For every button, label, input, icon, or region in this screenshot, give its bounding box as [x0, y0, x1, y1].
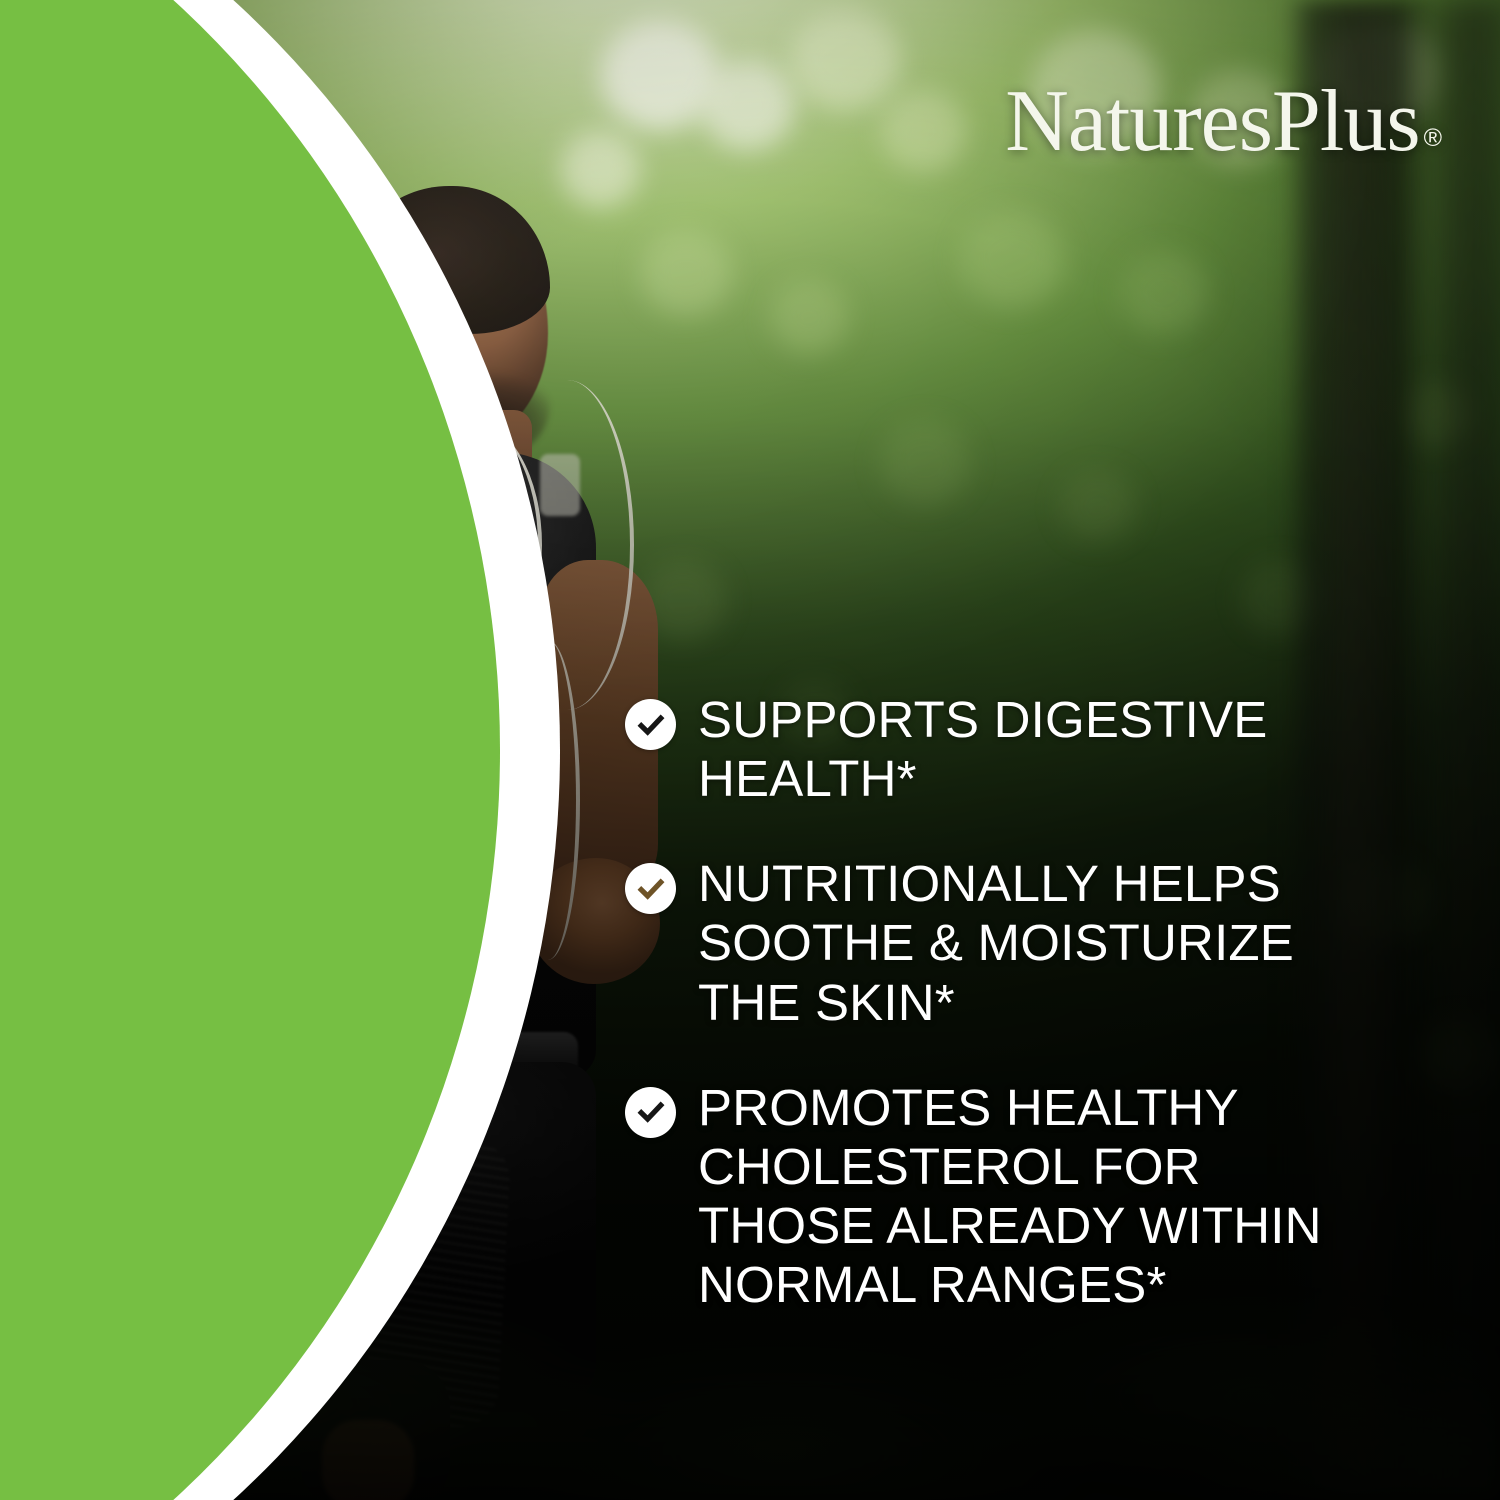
- benefit-item-soothe-moisturize-skin: NUTRITIONALLY HELPS SOOTHE & MOISTURIZE …: [625, 854, 1385, 1031]
- check-circle-icon: [625, 1087, 676, 1138]
- benefit-label: NUTRITIONALLY HELPS SOOTHE & MOISTURIZE …: [698, 854, 1294, 1031]
- naturesplus-logo: NaturesPlus ®: [1005, 78, 1442, 166]
- logo-wordmark: NaturesPlus: [1005, 78, 1419, 166]
- product-marketing-banner: NaturesPlus ® SUPPORTS DIGESTIVE HEALTH*…: [0, 0, 1500, 1500]
- benefit-label: SUPPORTS DIGESTIVE HEALTH*: [698, 690, 1267, 808]
- benefit-item-healthy-cholesterol: PROMOTES HEALTHY CHOLESTEROL FOR THOSE A…: [625, 1078, 1385, 1315]
- check-circle-icon: [625, 863, 676, 914]
- benefit-label: PROMOTES HEALTHY CHOLESTEROL FOR THOSE A…: [698, 1078, 1322, 1315]
- check-circle-icon: [625, 699, 676, 750]
- registered-trademark-icon: ®: [1424, 126, 1442, 151]
- benefit-item-digestive-health: SUPPORTS DIGESTIVE HEALTH*: [625, 690, 1385, 808]
- benefits-list: SUPPORTS DIGESTIVE HEALTH* NUTRITIONALLY…: [625, 690, 1385, 1314]
